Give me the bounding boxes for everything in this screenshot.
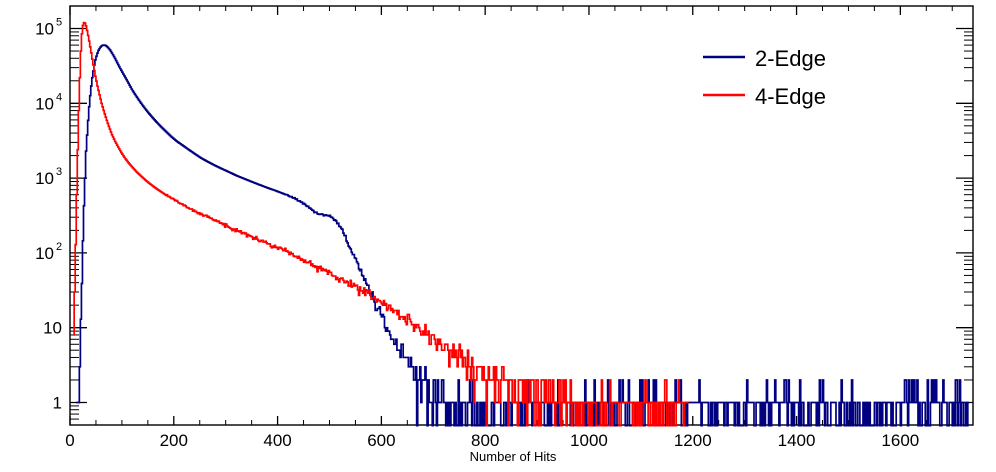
y-tick-exponent: 4 — [56, 91, 62, 103]
x-tick-label: 1200 — [674, 431, 712, 450]
y-tick-mantissa: 10 — [43, 319, 62, 338]
y-tick-mantissa: 10 — [35, 169, 54, 188]
histogram-plot: 0200400600800100012001400160011010210310… — [0, 0, 996, 472]
y-tick-exponent: 2 — [56, 241, 62, 253]
x-tick-label: 600 — [367, 431, 395, 450]
y-tick-exponent: 5 — [56, 17, 62, 29]
legend-label-4-edge[interactable]: 4-Edge — [755, 84, 826, 109]
x-tick-label: 200 — [160, 431, 188, 450]
legend-label-2-edge[interactable]: 2-Edge — [755, 46, 826, 71]
y-tick-label: 1 — [53, 393, 62, 412]
y-tick-mantissa: 10 — [35, 94, 54, 113]
y-tick-exponent: 3 — [56, 166, 62, 178]
x-tick-label: 1400 — [778, 431, 816, 450]
y-tick-mantissa: 10 — [35, 20, 54, 39]
y-tick-mantissa: 10 — [35, 244, 54, 263]
y-tick-label: 10 — [43, 319, 62, 338]
x-axis-title: Number of Hits — [470, 449, 557, 464]
y-tick-mantissa: 1 — [53, 393, 62, 412]
x-tick-label: 1600 — [881, 431, 919, 450]
x-tick-label: 1000 — [570, 431, 608, 450]
x-tick-label: 0 — [65, 431, 74, 450]
x-tick-label: 800 — [471, 431, 499, 450]
chart-canvas: 0200400600800100012001400160011010210310… — [0, 0, 996, 472]
x-tick-label: 400 — [263, 431, 291, 450]
